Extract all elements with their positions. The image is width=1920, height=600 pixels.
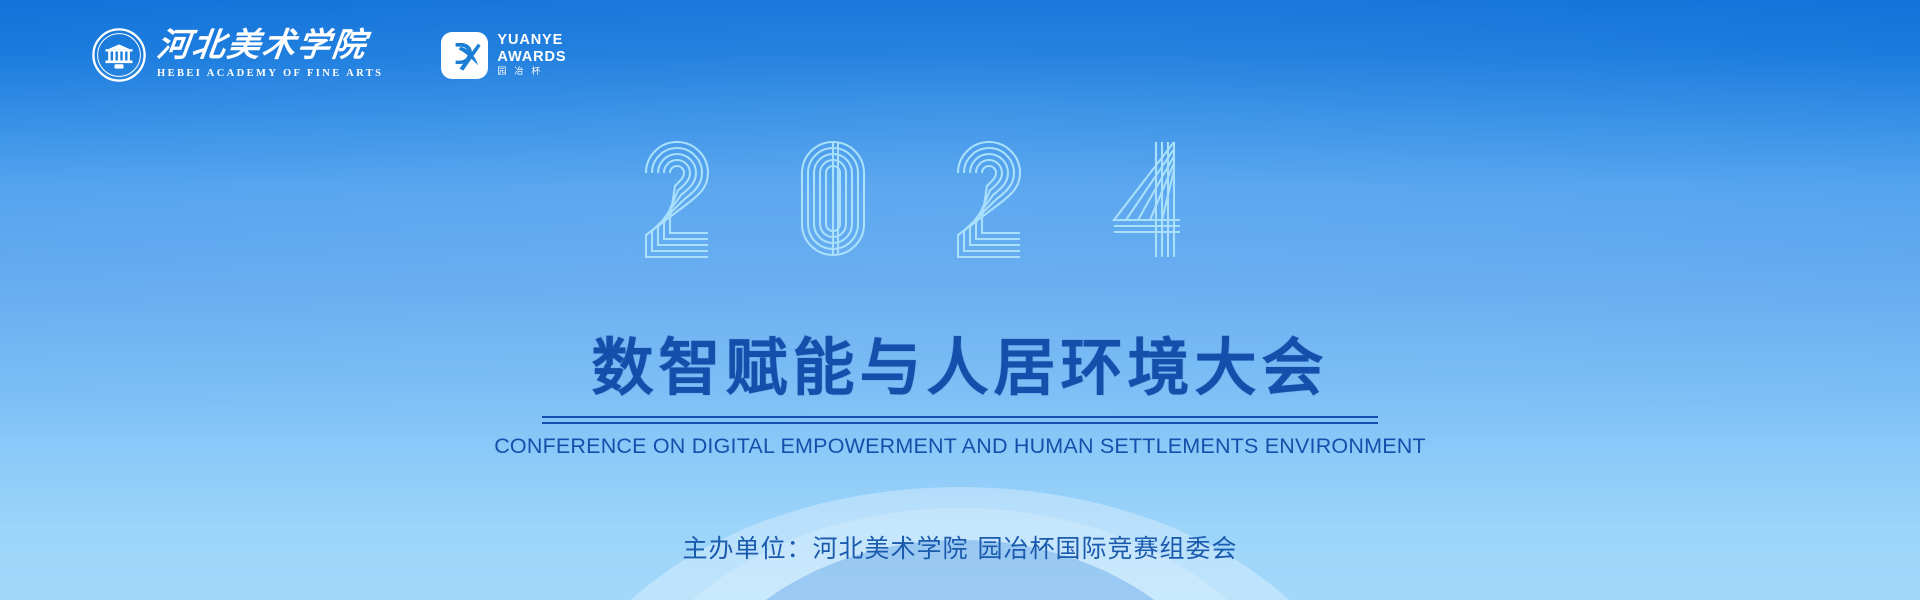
page-title-cn: 数智赋能与人居环境大会 xyxy=(0,337,1920,399)
title-divider xyxy=(542,416,1378,424)
year-graphic xyxy=(0,136,1920,260)
academy-name-cn: 河北美术学院 xyxy=(155,30,385,63)
award-name-block: YUANYE AWARDS 园冶杯 xyxy=(497,33,566,77)
award-name-line1: YUANYE xyxy=(497,33,566,48)
hebei-academy-logo: 河北美术学院 HEBEI ACADEMY OF FINE ARTS xyxy=(92,28,383,82)
academy-name-block: 河北美术学院 HEBEI ACADEMY OF FINE ARTS xyxy=(157,30,383,80)
year-2024-striped-icon xyxy=(640,136,1280,260)
academy-name-en: HEBEI ACADEMY OF FINE ARTS xyxy=(157,69,383,80)
page-title-en: CONFERENCE ON DIGITAL EMPOWERMENT AND HU… xyxy=(0,434,1920,459)
logo-row: 河北美术学院 HEBEI ACADEMY OF FINE ARTS YUANYE… xyxy=(92,28,566,82)
conference-banner: 河北美术学院 HEBEI ACADEMY OF FINE ARTS YUANYE… xyxy=(0,0,1920,600)
divider-line-top xyxy=(542,416,1378,418)
yuanye-awards-logo: YUANYE AWARDS 园冶杯 xyxy=(441,32,566,79)
academy-seal-icon xyxy=(92,28,146,82)
yuanye-leaf-mark-icon xyxy=(441,32,488,79)
award-name-line2: AWARDS xyxy=(497,50,566,65)
divider-line-bottom xyxy=(542,422,1378,424)
background-sheen xyxy=(0,0,1920,600)
headline-block: 数智赋能与人居环境大会 CONFERENCE ON DIGITAL EMPOWE… xyxy=(0,337,1920,459)
award-name-cn: 园冶杯 xyxy=(497,68,566,77)
hosts-line: 主办单位：河北美术学院 园冶杯国际竞赛组委会 xyxy=(0,529,1920,565)
